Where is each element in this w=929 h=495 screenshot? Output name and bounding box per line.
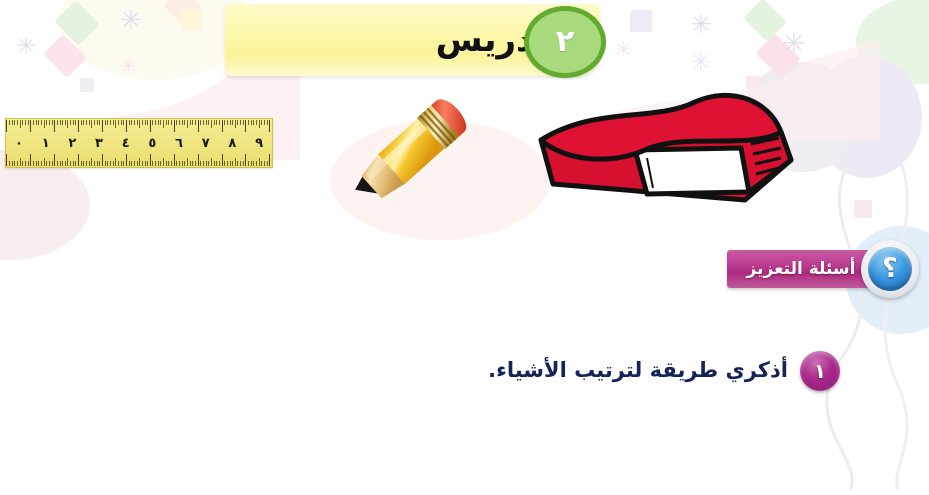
ruler-number-scale: ٩ ٨ ٧ ٦ ٥ ٤ ٣ ٢ ١ ٠: [6, 134, 272, 154]
question-mark-glyph: ؟: [882, 255, 898, 282]
ruler-number: ١: [42, 134, 50, 154]
reinforcement-banner: أسئلة التعزيز: [727, 250, 875, 288]
ruler-ticks-bottom: [6, 153, 272, 166]
confetti-square-pink-low: [854, 200, 872, 218]
ruler-number: ٠: [15, 134, 23, 154]
ruler-illustration: ٩ ٨ ٧ ٦ ٥ ٤ ٣ ٢ ١ ٠: [5, 118, 273, 168]
confetti-star-2: ✳: [16, 34, 36, 58]
ruler-number: ٥: [148, 134, 156, 154]
confetti-square-lavender: [630, 10, 652, 32]
ruler-number: ٩: [255, 134, 263, 154]
question-mark-icon: ؟: [868, 247, 912, 291]
confetti-diamond-pink: [43, 34, 87, 78]
confetti-star-1: ✳: [120, 8, 142, 34]
balloon-shape-green: [856, 0, 929, 84]
confetti-diamond-green-2: [743, 0, 787, 42]
ruler-number: ٦: [175, 134, 183, 154]
confetti-diamond-peach: [163, 0, 203, 27]
balloon-string: [780, 160, 929, 490]
confetti-star-4: ✳: [690, 12, 712, 38]
ruler-number: ٤: [122, 134, 130, 154]
ruler-number: ٢: [68, 134, 76, 154]
reinforcement-banner-label: أسئلة التعزيز: [747, 259, 856, 279]
confetti-star-3: ✳: [120, 56, 137, 76]
confetti-square-grey: [80, 78, 94, 92]
confetti-star-7: ✳: [614, 40, 632, 62]
confetti-star-5: ✳: [782, 30, 805, 58]
pencil-illustration: [340, 92, 470, 222]
confetti-square-yellow: [182, 10, 202, 30]
question-text: أذكري طريقة لترتيب الأشياء.: [488, 358, 788, 383]
help-button[interactable]: ؟: [861, 240, 919, 298]
confetti-diamond-green: [54, 0, 99, 45]
reinforcement-header: أسئلة التعزيز ؟: [686, 240, 911, 298]
question-number-label: ١: [814, 361, 826, 381]
question-item: ١ أذكري طريقة لترتيب الأشياء.: [440, 348, 840, 394]
book-illustration: [535, 88, 800, 206]
confetti-star-6: ✳: [690, 50, 712, 76]
balloon-shape-cream: [60, 0, 250, 80]
slide-canvas: ✳ ✳ ✳ ✳ ✳ ✳ ✳ التدريس ٢: [0, 0, 929, 495]
balloon-shape-lavender: [812, 56, 922, 178]
ruler-number: ٧: [202, 134, 210, 154]
ruler-ticks-top: [6, 120, 272, 133]
confetti-diamond-pink-2: [755, 33, 800, 78]
question-number-badge: ١: [800, 351, 840, 391]
ruler-number: ٣: [95, 134, 103, 154]
section-number-label: ٢: [556, 24, 574, 59]
ruler-number: ٨: [228, 134, 236, 154]
section-number-badge: ٢: [524, 6, 606, 78]
